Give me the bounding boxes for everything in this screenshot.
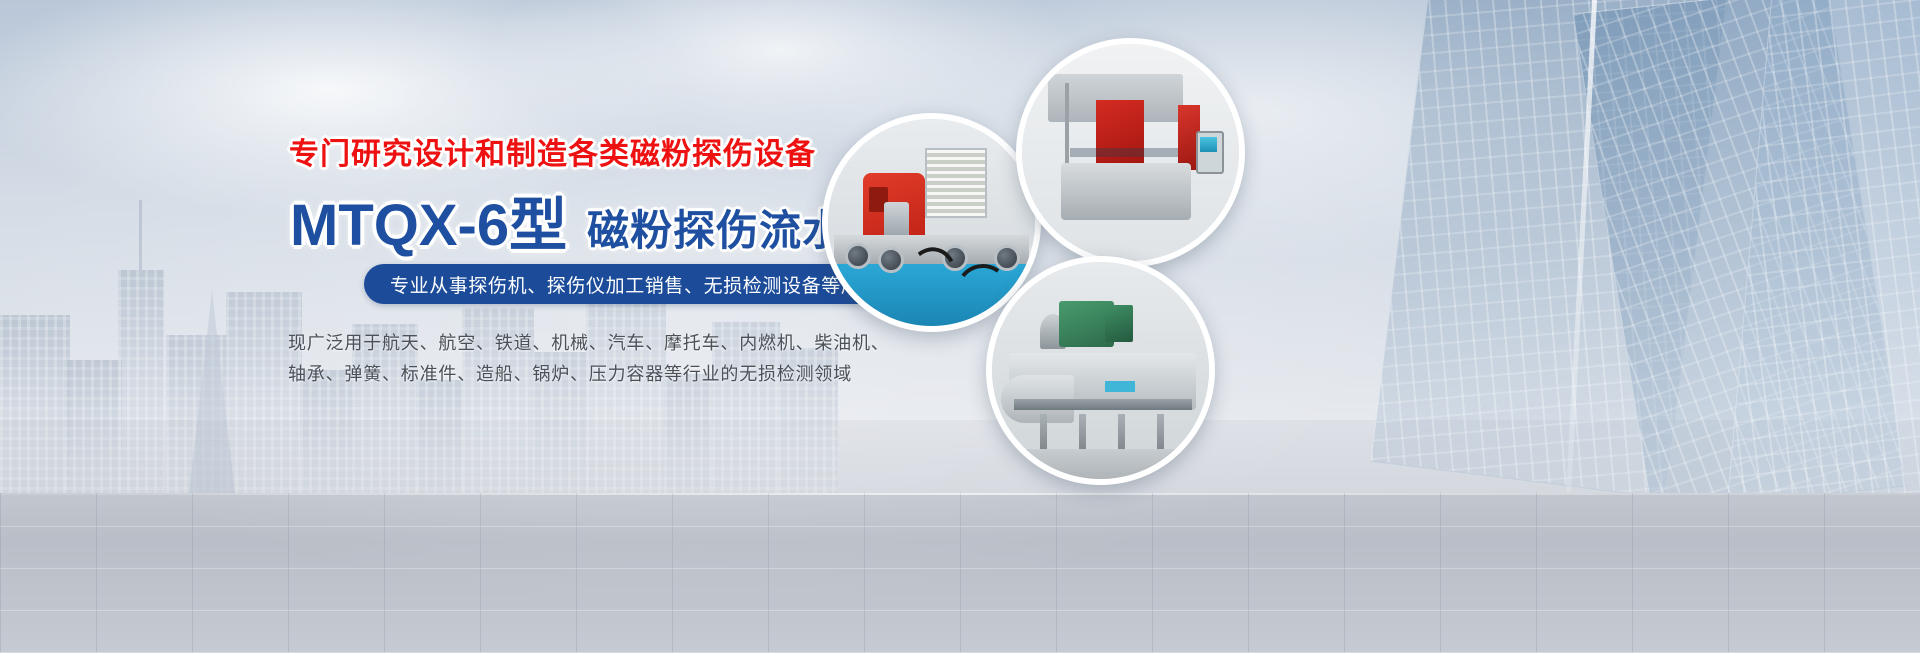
photo-production-line <box>986 256 1215 485</box>
description-line-2: 轴承、弹簧、标准件、造船、锅炉、压力容器等行业的无损检测领域 <box>288 359 890 390</box>
banner-copy-block: 专门研究设计和制造各类磁粉探伤设备 MTQX-6型 磁粉探伤流水线 专业从事探伤… <box>0 0 1000 653</box>
photo-inspection-booth <box>1016 38 1245 267</box>
banner-title: MTQX-6型 磁粉探伤流水线 <box>290 178 888 262</box>
banner-tagline-pill: 专业从事探伤机、探伤仪加工销售、无损检测设备等产品 <box>364 264 906 304</box>
banner-title-model: MTQX-6型 <box>290 178 567 262</box>
banner-description: 现广泛用于航天、航空、铁道、机械、汽车、摩托车、内燃机、柴油机、 轴承、弹簧、标… <box>288 328 890 390</box>
banner-headline-red: 专门研究设计和制造各类磁粉探伤设备 <box>289 129 816 173</box>
promotional-banner: 专门研究设计和制造各类磁粉探伤设备 MTQX-6型 磁粉探伤流水线 专业从事探伤… <box>0 0 1920 653</box>
glass-tower-silhouette <box>1280 0 1920 520</box>
description-line-1: 现广泛用于航天、航空、铁道、机械、汽车、摩托车、内燃机、柴油机、 <box>288 328 890 359</box>
